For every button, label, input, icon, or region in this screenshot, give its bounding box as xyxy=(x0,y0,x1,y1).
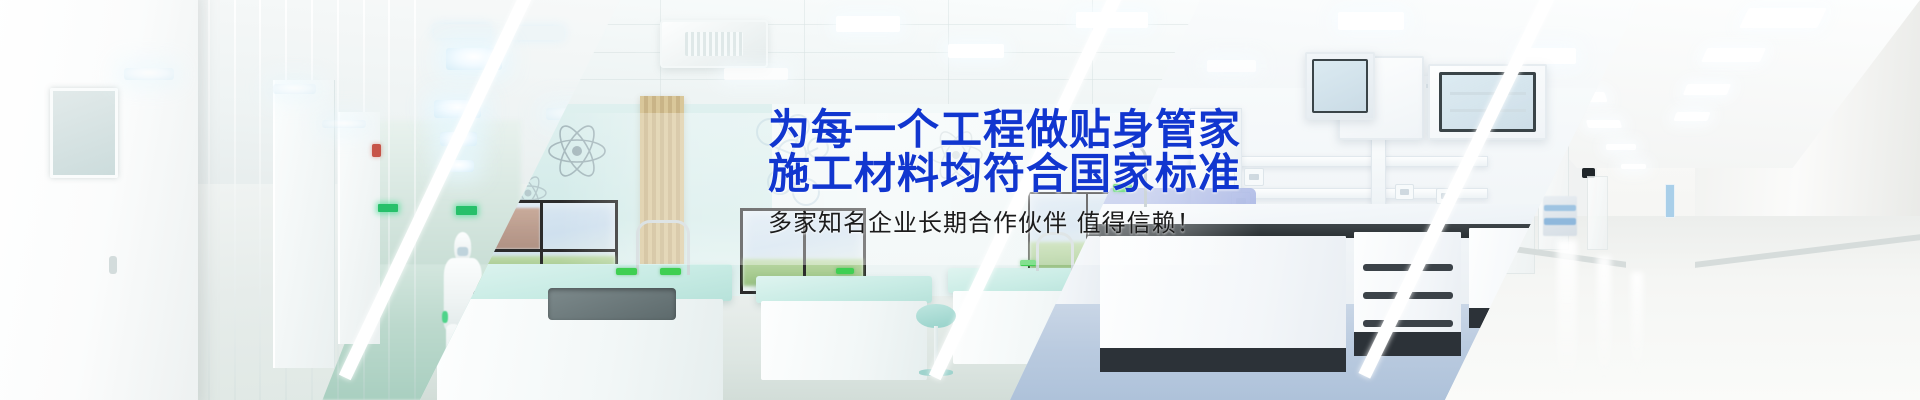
door-vision-panel xyxy=(50,88,118,178)
ceiling-panel-light xyxy=(1207,60,1256,72)
exit-sign xyxy=(378,204,398,212)
drawer-handle xyxy=(1363,320,1453,327)
ceiling-light-strip xyxy=(1739,8,1827,28)
fire-alarm xyxy=(372,144,381,157)
gas-tap-green xyxy=(660,268,681,275)
ceiling-light-strip xyxy=(1586,120,1623,128)
gas-tap-green xyxy=(836,268,854,274)
base-cabinet xyxy=(1100,236,1346,356)
door-handle xyxy=(109,256,117,274)
lab-faucet xyxy=(1036,232,1074,271)
corridor-door xyxy=(1587,176,1609,250)
ceiling-panel-light xyxy=(1338,12,1404,30)
banner-copy: 为每一个工程做贴身管家 施工材料均符合国家标准 多家知名企业长期合作伙伴 值得信… xyxy=(768,108,1468,236)
ceiling-light-strip xyxy=(1701,48,1766,62)
panel-light xyxy=(948,44,1004,58)
lab-faucet xyxy=(636,220,690,275)
cabinet-plinth xyxy=(1100,348,1346,372)
gas-tap-green xyxy=(1020,260,1036,266)
ceiling-light-reflection xyxy=(322,120,365,128)
lab-sink xyxy=(548,288,676,320)
corridor-door-foreground xyxy=(0,0,198,400)
banner-subtitle: 多家知名企业长期合作伙伴 值得信赖！ xyxy=(768,210,1468,236)
ceiling-light-reflection xyxy=(124,68,174,80)
ceiling-light-strip xyxy=(1621,164,1646,169)
gas-tap-green xyxy=(616,268,637,275)
headline-line-1: 为每一个工程做贴身管家 xyxy=(768,108,1468,152)
ceiling-light-strip xyxy=(1606,144,1635,150)
exit-sign xyxy=(456,206,477,215)
lab-bench xyxy=(756,276,932,380)
corridor-door-far xyxy=(1665,184,1675,218)
panel-light xyxy=(724,68,788,80)
floor-reflection xyxy=(1597,256,1612,384)
ceiling-light-reflection xyxy=(273,84,316,94)
cabinet-glass-door xyxy=(1312,59,1367,113)
floor-reflection xyxy=(1557,240,1577,392)
hepa-diffuser xyxy=(434,24,490,38)
ceiling-light-strip xyxy=(1683,84,1732,95)
medical-cart xyxy=(1543,196,1577,236)
ceiling-light-strip xyxy=(1673,112,1710,121)
panel-light xyxy=(836,16,900,32)
headline-line-2: 施工材料均符合国家标准 xyxy=(768,152,1468,196)
hero-banner: 为每一个工程做贴身管家 施工材料均符合国家标准 多家知名企业长期合作伙伴 值得信… xyxy=(0,0,1920,400)
air-conditioner-vent xyxy=(660,20,768,68)
floor-reflection xyxy=(1631,272,1643,376)
